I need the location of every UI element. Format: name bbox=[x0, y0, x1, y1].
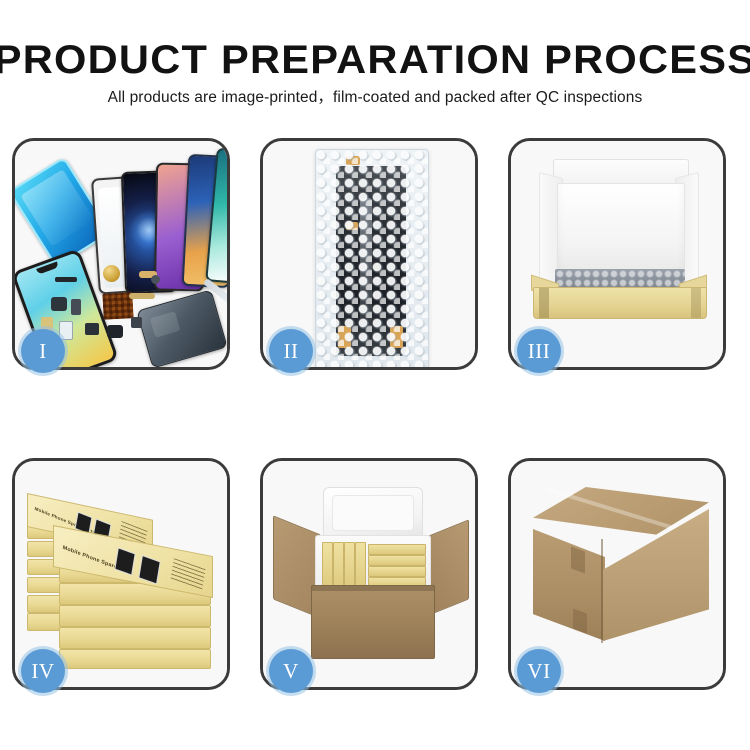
step-panel-1: I bbox=[12, 138, 230, 370]
box-label-screen-image bbox=[138, 555, 161, 585]
step-panel-3: III bbox=[508, 138, 726, 370]
box-side bbox=[59, 649, 211, 669]
spare-part bbox=[71, 299, 81, 315]
step-panel-4: Mobile Phone Spare Parts Mobile Phone Sp… bbox=[12, 458, 230, 690]
page-title: PRODUCT PREPARATION PROCESS bbox=[0, 38, 750, 82]
step-badge-5: V bbox=[269, 649, 313, 693]
camera-lens-part bbox=[103, 265, 120, 282]
packed-box bbox=[368, 544, 426, 555]
box-side bbox=[59, 605, 211, 627]
step-panel-6: VI bbox=[508, 458, 726, 690]
spare-part bbox=[131, 317, 142, 328]
page-subtitle: All products are image-printed，film-coat… bbox=[0, 88, 750, 108]
step-badge-3: III bbox=[517, 329, 561, 373]
step-panel-2: II bbox=[260, 138, 478, 370]
spare-part bbox=[85, 323, 99, 335]
box-side bbox=[59, 627, 211, 649]
open-carton-with-foam bbox=[273, 477, 469, 663]
spare-part bbox=[107, 325, 123, 338]
step-badge-6: VI bbox=[517, 649, 561, 693]
bubble-wrap-bag bbox=[315, 149, 429, 367]
carton-vertical-edge bbox=[601, 539, 603, 643]
step-badge-4: IV bbox=[21, 649, 65, 693]
box-front-panel bbox=[533, 287, 707, 319]
phone-back-housing bbox=[136, 289, 227, 367]
open-mailer-box bbox=[529, 159, 709, 335]
spare-part bbox=[55, 277, 77, 282]
foam-box-lid bbox=[323, 487, 423, 541]
bubble-texture bbox=[316, 150, 428, 367]
step-badge-1: I bbox=[21, 329, 65, 373]
spare-part bbox=[51, 297, 67, 311]
stacked-boxes: Mobile Phone Spare Parts Mobile Phone Sp… bbox=[21, 471, 221, 671]
process-steps-grid: I II bbox=[0, 138, 750, 698]
carton-front-panel bbox=[311, 585, 435, 659]
flex-cable-part bbox=[129, 293, 155, 299]
page-header: PRODUCT PREPARATION PROCESS All products… bbox=[0, 0, 750, 120]
packed-box bbox=[368, 555, 426, 566]
carton-tape-mark bbox=[571, 546, 585, 573]
carton-left-face bbox=[533, 529, 605, 641]
white-foam-sheet bbox=[557, 183, 685, 283]
sealed-carton bbox=[533, 487, 709, 659]
step-panel-5: V bbox=[260, 458, 478, 690]
packed-box bbox=[368, 566, 426, 577]
spare-part bbox=[151, 275, 160, 284]
step-badge-2: II bbox=[269, 329, 313, 373]
box-label-text-lines bbox=[170, 558, 205, 590]
spare-part bbox=[59, 321, 73, 340]
